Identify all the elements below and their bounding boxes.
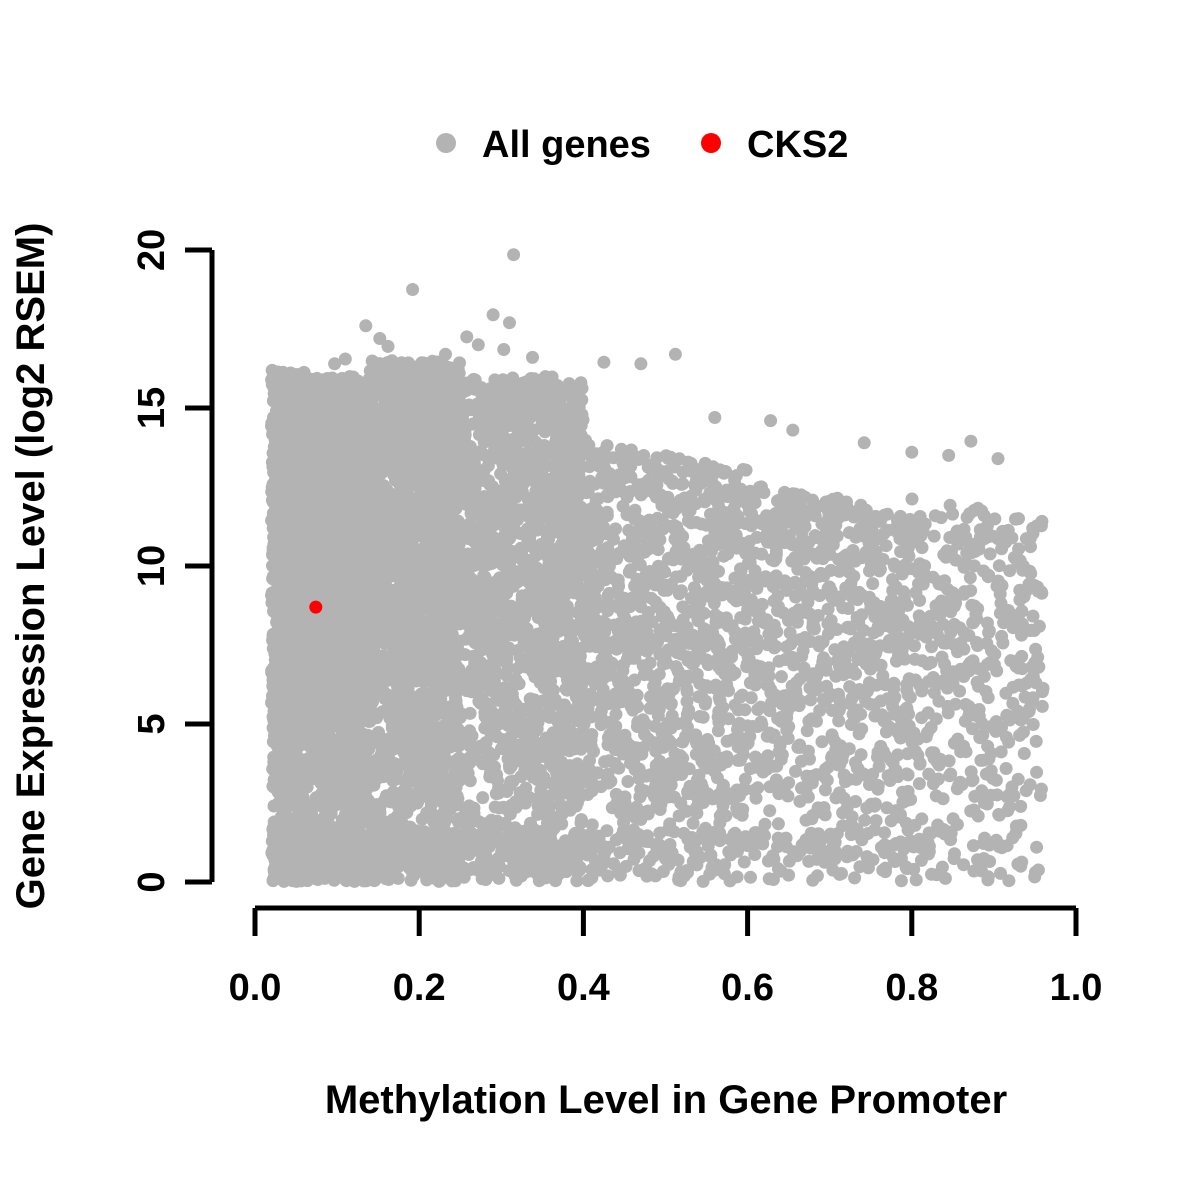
legend-marker-all-genes [436,133,456,153]
scatter-plot-figure: 05101520 0.00.20.40.60.81.0 Methylation … [0,0,1200,1200]
legend-marker-cks2 [701,133,721,153]
y-tick-label: 5 [131,713,173,734]
y-tick-label: 0 [131,871,173,892]
x-tick-label: 0.4 [557,967,610,1009]
y-axis-title: Gene Expression Level (log2 RSEM) [9,223,53,910]
legend-label-all-genes: All genes [482,124,651,166]
y-tick-label: 10 [131,545,173,587]
cks2-point[interactable] [309,601,322,614]
y-tick-label: 20 [131,229,173,271]
x-tick-label: 1.0 [1050,967,1103,1009]
x-tick-label: 0.2 [393,967,446,1009]
y-tick-label: 15 [131,387,173,429]
x-tick-label: 0.6 [721,967,774,1009]
cks2-highlight-point[interactable] [309,601,322,614]
plot-canvas: 05101520 0.00.20.40.60.81.0 Methylation … [0,0,1200,1200]
x-tick-label: 0.8 [885,967,938,1009]
legend: All genes CKS2 [436,124,848,166]
x-axis-title: Methylation Level in Gene Promoter [325,1078,1007,1122]
legend-label-cks2: CKS2 [747,124,848,166]
x-tick-label: 0.0 [229,967,282,1009]
